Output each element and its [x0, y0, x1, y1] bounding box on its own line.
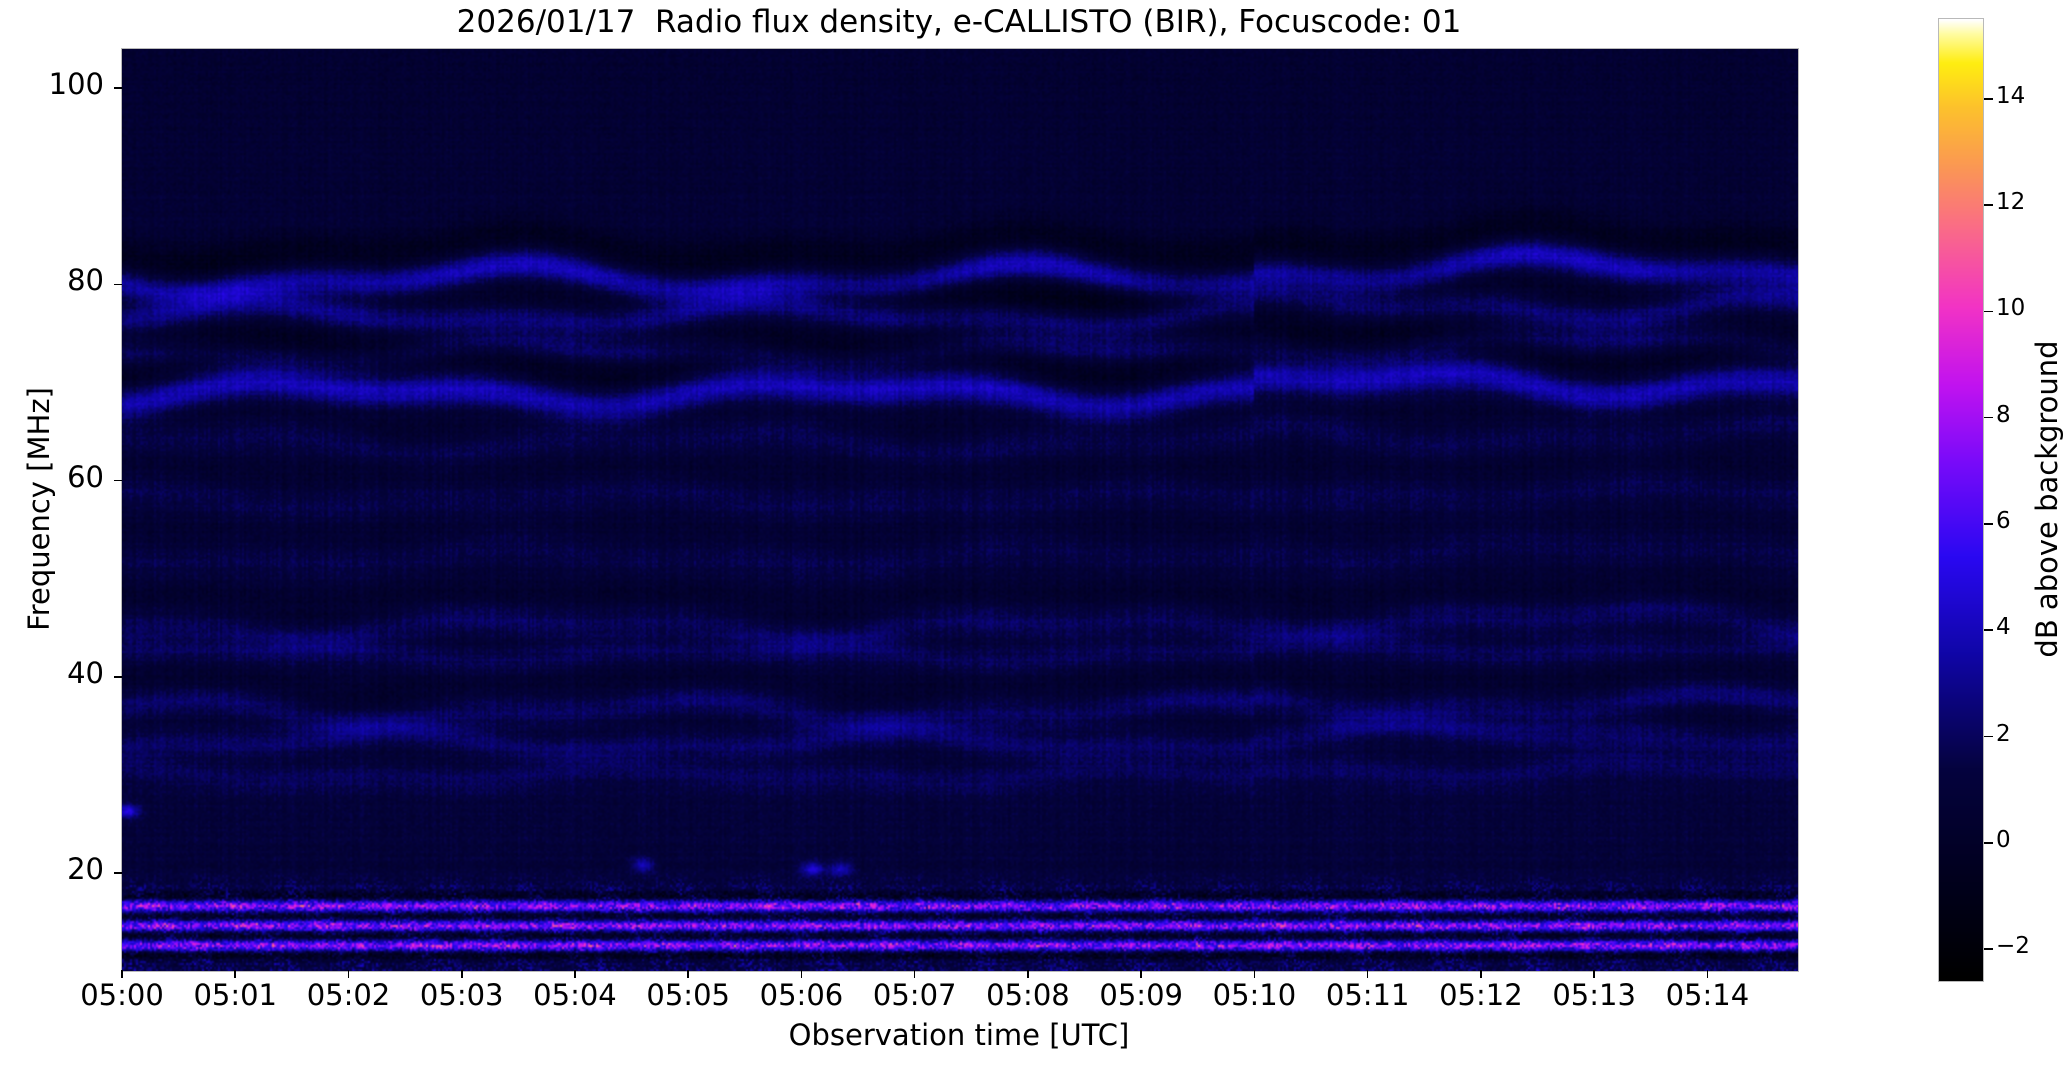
y-tick-mark	[114, 872, 122, 874]
spectrogram-plot-area	[121, 48, 1799, 972]
spectrogram-image	[122, 49, 1798, 971]
x-tick-mark	[234, 970, 236, 978]
colorbar-tick-mark	[1984, 842, 1993, 844]
colorbar-tick-mark	[1984, 98, 1993, 100]
colorbar-tick-label: −2	[1996, 933, 2030, 959]
x-tick-mark	[1480, 970, 1482, 978]
colorbar-tick-label: 6	[1996, 508, 2011, 534]
x-tick-mark	[687, 970, 689, 978]
colorbar-tick-mark	[1984, 311, 1993, 313]
x-tick-mark	[121, 970, 123, 978]
spectrogram-page: 2026/01/17 Radio flux density, e-CALLIST…	[0, 0, 2066, 1067]
x-tick-mark	[461, 970, 463, 978]
y-tick-mark	[114, 284, 122, 286]
x-axis-label: Observation time [UTC]	[121, 1018, 1797, 1052]
colorbar-tick-mark	[1984, 204, 1993, 206]
colorbar-tick-mark	[1984, 629, 1993, 631]
colorbar-tick-label: 10	[1996, 295, 2025, 321]
page-title: 2026/01/17 Radio flux density, e-CALLIST…	[121, 4, 1797, 40]
colorbar-tick-mark	[1984, 417, 1993, 419]
x-tick-mark	[1593, 970, 1595, 978]
y-tick-label: 100	[38, 67, 104, 101]
colorbar-gradient	[1939, 19, 1983, 981]
x-tick-mark	[348, 970, 350, 978]
x-tick-mark	[1027, 970, 1029, 978]
x-tick-mark	[1367, 970, 1369, 978]
colorbar-tick-mark	[1984, 736, 1993, 738]
y-tick-label: 20	[38, 852, 104, 886]
x-tick-mark	[1707, 970, 1709, 978]
colorbar-tick-mark	[1984, 948, 1993, 950]
colorbar-tick-mark	[1984, 523, 1993, 525]
x-tick-mark	[574, 970, 576, 978]
y-tick-label: 80	[38, 263, 104, 297]
colorbar-tick-label: 14	[1996, 83, 2025, 109]
colorbar-label: dB above background	[2030, 18, 2066, 980]
colorbar-tick-label: 12	[1996, 189, 2025, 215]
x-tick-mark	[801, 970, 803, 978]
x-tick-mark	[914, 970, 916, 978]
colorbar-tick-label: 8	[1996, 402, 2011, 428]
x-tick-label: 05:14	[1637, 978, 1777, 1012]
y-tick-label: 60	[38, 460, 104, 494]
colorbar-tick-label: 4	[1996, 614, 2011, 640]
x-tick-mark	[1254, 970, 1256, 978]
y-axis-label: Frequency [MHz]	[22, 48, 62, 970]
y-tick-mark	[114, 676, 122, 678]
colorbar	[1938, 18, 1984, 982]
y-tick-mark	[114, 87, 122, 89]
colorbar-tick-label: 2	[1996, 721, 2011, 747]
colorbar-tick-label: 0	[1996, 827, 2011, 853]
x-tick-mark	[1140, 970, 1142, 978]
y-tick-mark	[114, 480, 122, 482]
y-tick-label: 40	[38, 656, 104, 690]
